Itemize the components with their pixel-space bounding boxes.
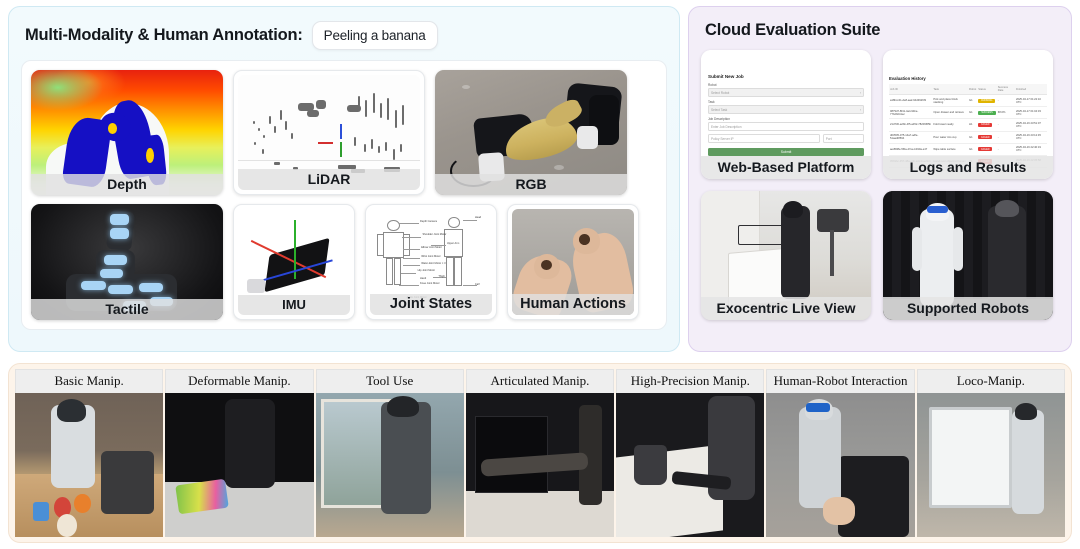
modality-row-2: Tactile IMU <box>31 204 657 320</box>
cell-task: Pick and place block stacking <box>932 95 968 107</box>
form-heading: Submit New Job <box>708 74 864 79</box>
category-label: Articulated Manip. <box>466 369 614 393</box>
cloud-evaluation-panel: Cloud Evaluation Suite Submit New Job Ro… <box>688 6 1072 352</box>
cell-robot: G1 <box>968 95 977 107</box>
modality-label: Human Actions <box>512 294 634 315</box>
cloud-tile-label: Web-Based Platform <box>701 156 871 179</box>
cell-status: FAILED <box>977 131 997 143</box>
cell-finished: 2025-04-16 23:12:45 UTC <box>1015 131 1047 143</box>
col-robot: Robot <box>968 84 977 95</box>
category-label: Tool Use <box>316 369 464 393</box>
category-label: Loco-Manip. <box>917 369 1065 393</box>
modality-label: Depth <box>31 174 223 195</box>
category-column[interactable]: High-Precision Manip. <box>616 369 764 537</box>
chevron-down-icon: › <box>860 108 861 112</box>
cell-success-rate: 68.0% <box>997 107 1015 119</box>
col-finished: Finished <box>1015 84 1047 95</box>
category-column[interactable]: Deformable Manip. <box>165 369 313 537</box>
top-row: Multi-Modality & Human Annotation: Peeli… <box>0 0 1080 352</box>
cloud-tile-label: Exocentric Live View <box>701 297 871 320</box>
task-category-strip: Basic Manip.Deformable Manip.Tool UseArt… <box>8 363 1072 543</box>
cell-job-id: d03505-075-14a7-adfe-51aad0f594 <box>889 131 932 143</box>
cell-task: Open drawer and retrieve <box>932 107 968 119</box>
cell-robot: G1 <box>968 131 977 143</box>
cell-robot: G1 <box>968 143 977 155</box>
modality-card: Depth <box>21 60 667 330</box>
modality-tile-rgb[interactable]: RGB <box>435 70 627 195</box>
status-badge: FAILED <box>978 135 992 139</box>
multi-modality-title: Multi-Modality & Human Annotation: Peeli… <box>25 21 665 50</box>
cell-task: Wipe table surface <box>932 143 968 155</box>
category-photo <box>15 393 163 537</box>
table-header-row: Job ID Task Robot Status Success Rate Fi… <box>889 84 1047 95</box>
submit-button[interactable]: Submit <box>708 148 864 156</box>
table-row[interactable]: a18bcc41-de8-aa2-94d3926f3Pick and place… <box>889 95 1047 107</box>
cell-success-rate: - <box>997 131 1015 143</box>
table-row[interactable]: 0879d7-8f41-4a4-94be-77b2b041ecOpen draw… <box>889 107 1047 119</box>
table-row[interactable]: aed508e-5f0a-47ee-b490a-e47Wipe table su… <box>889 143 1047 155</box>
job-description-input[interactable]: Enter Job Description <box>708 122 864 131</box>
status-badge: RUNNING <box>978 99 995 103</box>
cloud-tile-label: Supported Robots <box>883 297 1053 320</box>
col-job-id: Job ID <box>889 84 932 95</box>
cell-finished: 2025-04-16 23:51:07 UTC <box>1015 119 1047 131</box>
multi-modality-panel: Multi-Modality & Human Annotation: Peeli… <box>8 6 680 352</box>
category-column[interactable]: Basic Manip. <box>15 369 163 537</box>
cloud-tile-grid: Submit New Job Robot Select Robot › Task… <box>701 50 1059 320</box>
modality-label: Joint States <box>370 294 492 315</box>
modality-tile-lidar[interactable]: LiDAR <box>233 70 425 195</box>
category-photo <box>917 393 1065 537</box>
cell-robot: G1 <box>968 107 977 119</box>
category-column[interactable]: Articulated Manip. <box>466 369 614 537</box>
table-row[interactable]: d03505-075-14a7-adfe-51aad0f594Pour wate… <box>889 131 1047 143</box>
task-select[interactable]: Select Task › <box>708 105 864 114</box>
field-label-job-description: Job Description <box>708 117 864 121</box>
cell-job-id: aed508e-5f0a-47ee-b490a-e47 <box>889 143 932 155</box>
cell-robot: H1 <box>968 119 977 131</box>
category-columns: Basic Manip.Deformable Manip.Tool UseArt… <box>15 369 1065 537</box>
cell-finished: 2025-04-16 22:40:19 UTC <box>1015 143 1047 155</box>
field-label-task: Task <box>708 100 864 104</box>
cell-job-id: 21d730-a2bb-4f5-a452-78209f65b <box>889 119 932 131</box>
policy-server-ip-input[interactable]: Policy Server IP <box>708 134 820 143</box>
robot-select[interactable]: Select Robot › <box>708 88 864 97</box>
modality-tile-depth[interactable]: Depth <box>31 70 223 195</box>
status-badge: FAILED <box>978 147 992 151</box>
category-label: Deformable Manip. <box>165 369 313 393</box>
category-photo <box>316 393 464 537</box>
modality-row-1: Depth <box>31 70 657 195</box>
cell-task: Fold towel neatly <box>932 119 968 131</box>
category-column[interactable]: Tool Use <box>316 369 464 537</box>
col-success-rate: Success Rate <box>997 84 1015 95</box>
table-row[interactable]: 21d730-a2bb-4f5-a452-78209f65bFold towel… <box>889 119 1047 131</box>
port-placeholder: Port <box>826 137 832 141</box>
task-select-value: Select Task <box>711 108 727 112</box>
modality-label: IMU <box>238 295 350 315</box>
category-label: Basic Manip. <box>15 369 163 393</box>
category-label: Human-Robot Interaction <box>766 369 914 393</box>
cloud-tile-exocentric-view[interactable]: Exocentric Live View <box>701 191 871 320</box>
cell-finished: 2025-04-17 01:22:10 UTC <box>1015 95 1047 107</box>
figure-root: Multi-Modality & Human Annotation: Peeli… <box>0 0 1080 549</box>
modality-tile-joint-states[interactable]: Depth Camera Shoulder Joint Motor Elbow … <box>365 204 497 320</box>
cell-job-id: 0879d7-8f41-4a4-94be-77b2b041ec <box>889 107 932 119</box>
category-column[interactable]: Loco-Manip. <box>917 369 1065 537</box>
job-description-placeholder: Enter Job Description <box>711 125 741 129</box>
cell-finished: 2025-04-17 01:04:33 UTC <box>1015 107 1047 119</box>
modality-label: Tactile <box>31 299 223 320</box>
category-photo <box>466 393 614 537</box>
modality-label: RGB <box>435 174 627 195</box>
robot-select-value: Select Robot <box>711 91 729 95</box>
category-photo <box>165 393 313 537</box>
table-heading: Evaluation History <box>889 76 1047 81</box>
modality-tile-imu[interactable]: IMU <box>233 204 355 320</box>
cloud-tile-supported-robots[interactable]: Supported Robots <box>883 191 1053 320</box>
col-status: Status <box>977 84 997 95</box>
field-label-robot: Robot <box>708 83 864 87</box>
cell-status: SUCCESS <box>977 107 997 119</box>
modality-tile-human-actions[interactable]: Human Actions <box>507 204 639 320</box>
cell-job-id: a18bcc41-de8-aa2-94d3926f3 <box>889 95 932 107</box>
cell-success-rate: - <box>997 143 1015 155</box>
port-input[interactable]: Port <box>823 134 864 143</box>
cloud-row-1: Submit New Job Robot Select Robot › Task… <box>701 50 1059 179</box>
cell-success-rate: - <box>997 119 1015 131</box>
category-photo <box>766 393 914 537</box>
category-label: High-Precision Manip. <box>616 369 764 393</box>
status-badge: FAILED <box>978 123 992 127</box>
panel-title-text: Cloud Evaluation Suite <box>705 21 880 40</box>
cloud-suite-title: Cloud Evaluation Suite <box>705 21 1057 40</box>
cloud-row-2: Exocentric Live View Supported Robots <box>701 191 1059 320</box>
cloud-tile-logs-results[interactable]: Evaluation History Job ID Task Robot Sta… <box>883 50 1053 179</box>
category-photo <box>616 393 764 537</box>
modality-label: LiDAR <box>238 169 420 190</box>
category-column[interactable]: Human-Robot Interaction <box>766 369 914 537</box>
cell-status: FAILED <box>977 119 997 131</box>
policy-server-ip-placeholder: Policy Server IP <box>711 137 734 141</box>
cell-status: FAILED <box>977 143 997 155</box>
task-chip: Peeling a banana <box>312 21 438 50</box>
cloud-tile-web-platform[interactable]: Submit New Job Robot Select Robot › Task… <box>701 50 871 179</box>
chevron-down-icon: › <box>860 91 861 95</box>
cloud-tile-label: Logs and Results <box>883 156 1053 179</box>
cell-status: RUNNING <box>977 95 997 107</box>
panel-title-text: Multi-Modality & Human Annotation: <box>25 26 303 45</box>
status-badge: SUCCESS <box>978 111 996 115</box>
cell-success-rate: - <box>997 95 1015 107</box>
col-task: Task <box>932 84 968 95</box>
cell-task: Pour water into cup <box>932 131 968 143</box>
modality-tile-tactile[interactable]: Tactile <box>31 204 223 320</box>
